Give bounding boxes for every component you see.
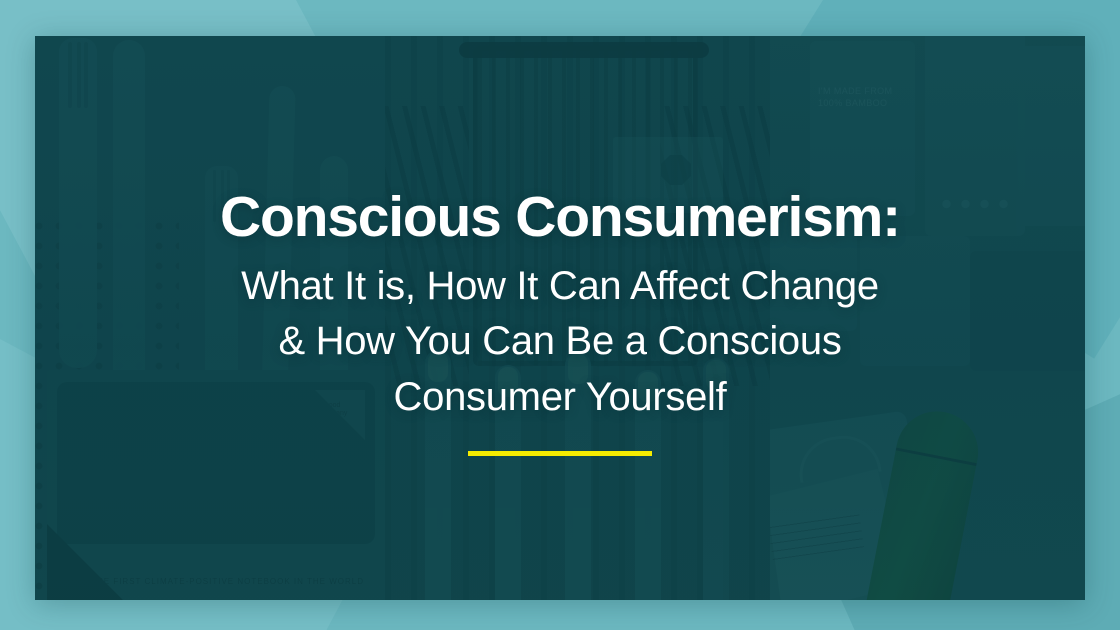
yellow-accent-divider <box>468 451 652 456</box>
page-title: Conscious Consumerism: <box>220 188 900 247</box>
subtitle-line-3: Consumer Yourself <box>241 370 879 425</box>
hero-card: a good company I AM THE FIRST CLIMATE-PO… <box>35 36 1085 600</box>
hero-text-block: Conscious Consumerism: What It is, How I… <box>35 36 1085 600</box>
page-subtitle: What It is, How It Can Affect Change & H… <box>241 259 879 425</box>
hero-banner: a good company I AM THE FIRST CLIMATE-PO… <box>0 0 1120 630</box>
subtitle-line-2: & How You Can Be a Conscious <box>241 314 879 369</box>
subtitle-line-1: What It is, How It Can Affect Change <box>241 259 879 314</box>
